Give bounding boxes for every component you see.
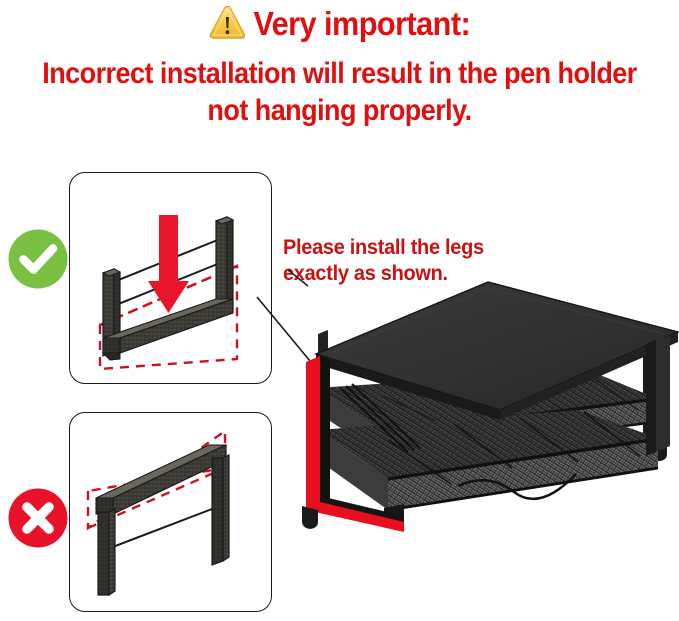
leg-rails [110, 509, 212, 548]
header-line-1-text: Very important: [253, 5, 470, 42]
leg-right-post [216, 217, 233, 306]
leg-top-bar [96, 445, 226, 514]
desk-organizer-monitor-stand [288, 270, 679, 550]
warning-triangle-icon [209, 4, 246, 49]
red-cross-circle-icon [7, 487, 69, 554]
leg-left-post [98, 509, 115, 595]
leg-right-post [212, 455, 229, 565]
front-right-leg [646, 336, 670, 456]
header-line-3: not hanging properly. [34, 92, 645, 130]
incorrect-leg-orientation-diagram [69, 412, 272, 612]
installation-warning-page: Very important: Incorrect installation w… [0, 0, 679, 621]
red-down-arrow [148, 215, 189, 313]
header-line-2: Incorrect installation will result in th… [34, 55, 645, 93]
header: Very important: Incorrect installation w… [0, 0, 679, 140]
header-line-1: Very important: [24, 4, 655, 49]
leader-attach-point [288, 270, 308, 286]
instruction-line-1: Please install the legs [283, 235, 568, 261]
green-check-circle-icon [7, 228, 69, 295]
correct-leg-orientation-diagram [69, 172, 272, 384]
